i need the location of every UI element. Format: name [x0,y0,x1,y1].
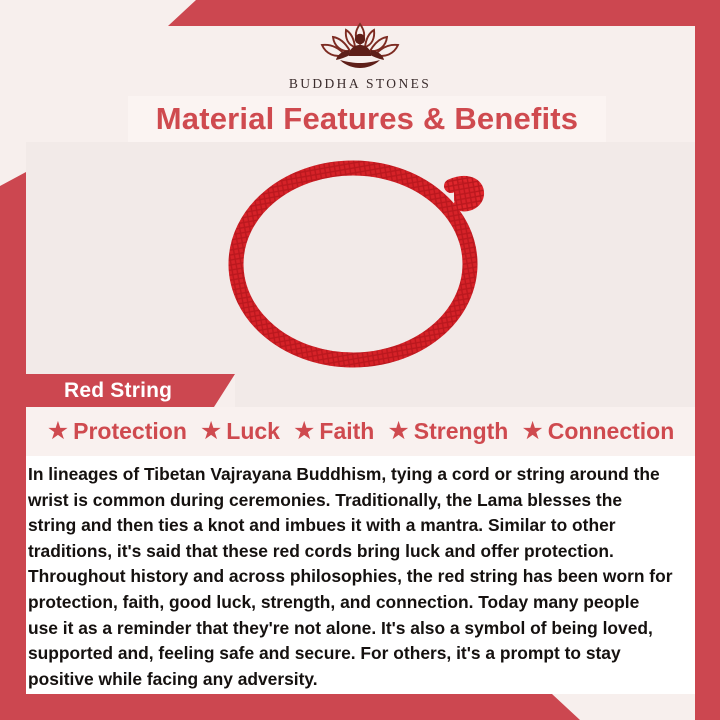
brand-name: BUDDHA STONES [289,76,431,92]
star-icon: ★ [200,419,222,444]
star-icon: ★ [293,419,315,444]
keyword-label: Faith [319,418,374,445]
ribbon-background-strip [235,374,695,407]
star-icon: ★ [521,419,543,444]
title-band: Material Features & Benefits [128,96,606,142]
infographic-page: BUDDHA STONES Material Features & Benefi… [0,0,720,720]
bottom-red-bar [0,694,720,720]
right-red-bar [695,26,720,720]
keyword-luck: ★ Luck [200,418,280,445]
ribbon-label: Red String [64,379,172,403]
star-icon: ★ [387,419,409,444]
benefit-keyword-row: ★ Protection ★ Luck ★ Faith ★ Strength ★… [26,407,695,456]
product-ribbon: Red String [26,374,235,407]
keyword-strength: ★ Strength [387,418,508,445]
product-image-panel [26,142,695,374]
keyword-label: Luck [226,418,280,445]
left-red-bar [0,172,26,694]
keyword-connection: ★ Connection [521,418,674,445]
keyword-protection: ★ Protection [47,418,187,445]
star-icon: ★ [47,419,69,444]
keyword-label: Protection [73,418,187,445]
lotus-meditation-icon [300,18,420,74]
page-title: Material Features & Benefits [156,101,579,137]
keyword-label: Connection [548,418,675,445]
red-braided-string-bracelet-image [222,156,498,368]
description-text: In lineages of Tibetan Vajrayana Buddhis… [28,462,673,692]
brand-logo: BUDDHA STONES [0,18,720,92]
keyword-label: Strength [414,418,509,445]
keyword-faith: ★ Faith [293,418,374,445]
description-panel: In lineages of Tibetan Vajrayana Buddhis… [26,456,695,694]
